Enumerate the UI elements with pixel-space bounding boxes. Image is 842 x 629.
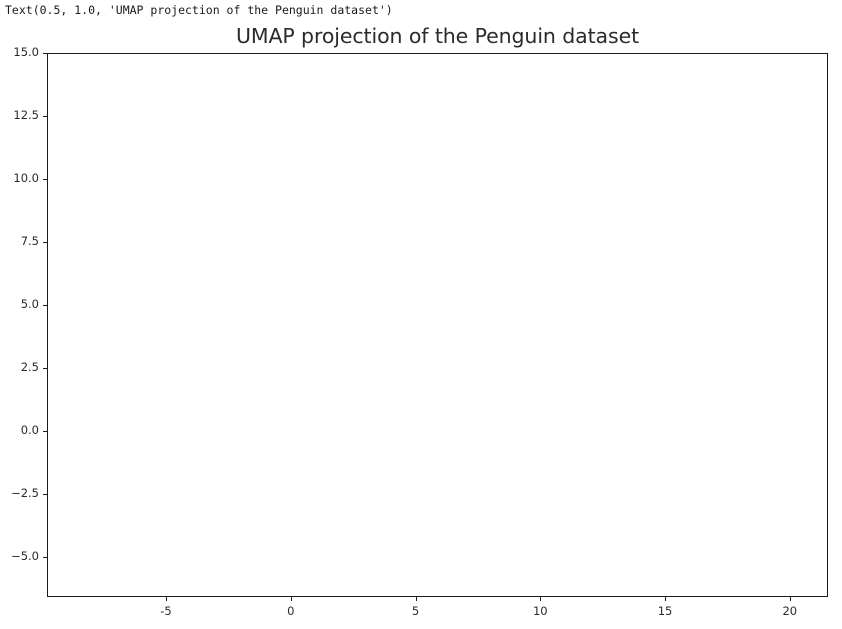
x-tick-mark xyxy=(291,597,292,601)
y-tick-mark xyxy=(43,431,47,432)
y-tick-label: −2.5 xyxy=(3,486,39,500)
x-tick-label: 0 xyxy=(271,604,311,618)
page-title: UMAP projection of the Penguin dataset xyxy=(47,24,828,48)
y-tick-label: 7.5 xyxy=(3,234,39,248)
x-tick-mark xyxy=(790,597,791,601)
x-tick-mark xyxy=(540,597,541,601)
y-tick-mark xyxy=(43,305,47,306)
y-tick-mark xyxy=(43,494,47,495)
y-tick-label: 2.5 xyxy=(3,360,39,374)
y-tick-label: 10.0 xyxy=(3,171,39,185)
y-tick-mark xyxy=(43,368,47,369)
y-tick-label: 0.0 xyxy=(3,423,39,437)
y-tick-mark xyxy=(43,557,47,558)
x-tick-label: 20 xyxy=(770,604,810,618)
y-tick-mark xyxy=(43,179,47,180)
x-tick-mark xyxy=(665,597,666,601)
axes-frame xyxy=(47,53,828,597)
x-tick-label: -5 xyxy=(146,604,186,618)
y-tick-mark xyxy=(43,242,47,243)
y-tick-mark xyxy=(43,116,47,117)
y-tick-label: 12.5 xyxy=(3,108,39,122)
x-tick-mark xyxy=(166,597,167,601)
matplotlib-figure: Text(0.5, 1.0, 'UMAP projection of the P… xyxy=(0,0,842,629)
x-tick-label: 15 xyxy=(645,604,685,618)
y-tick-label: 5.0 xyxy=(3,297,39,311)
x-tick-label: 10 xyxy=(520,604,560,618)
x-tick-mark xyxy=(416,597,417,601)
y-tick-label: −5.0 xyxy=(3,549,39,563)
y-tick-mark xyxy=(43,53,47,54)
y-tick-label: 15.0 xyxy=(3,45,39,59)
x-tick-label: 5 xyxy=(396,604,436,618)
repr-output-text: Text(0.5, 1.0, 'UMAP projection of the P… xyxy=(5,3,393,17)
